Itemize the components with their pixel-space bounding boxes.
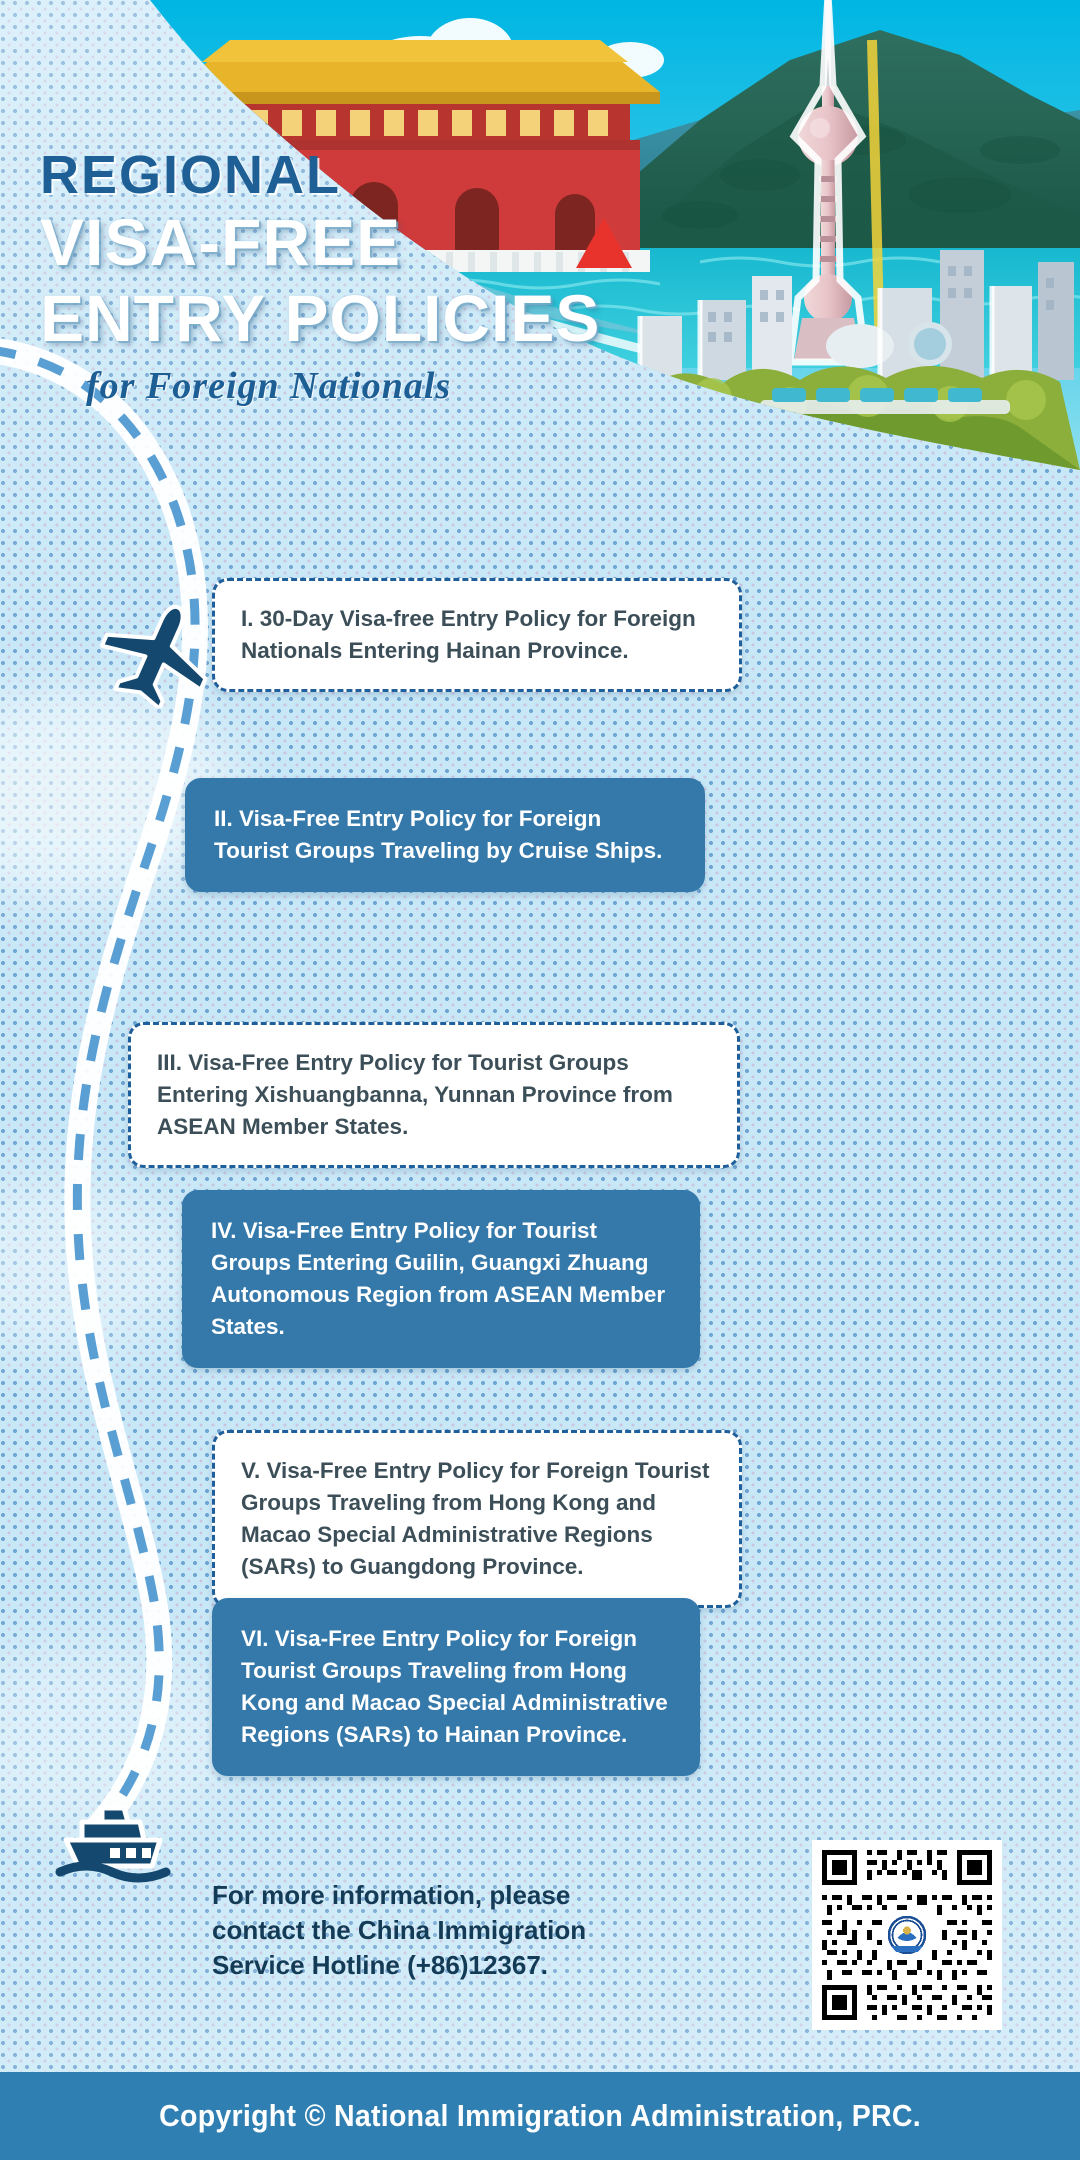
page-title: REGIONAL VISA-FREE ENTRY POLICIES for Fo… — [40, 148, 600, 408]
airplane-icon — [100, 598, 220, 713]
policy-card-4[interactable]: IV. Visa-Free Entry Policy for Tourist G… — [182, 1190, 700, 1368]
title-line-visa-free: VISA-FREE — [40, 208, 600, 278]
cruise-ship-icon — [48, 1792, 178, 1897]
title-subtitle: for Foreign Nationals — [86, 364, 600, 408]
policy-card-5[interactable]: V. Visa-Free Entry Policy for Foreign To… — [212, 1430, 742, 1608]
footer-bar: Copyright © National Immigration Adminis… — [0, 2072, 1080, 2160]
policy-card-1[interactable]: I. 30-Day Visa-free Entry Policy for For… — [212, 578, 742, 692]
copyright-text: Copyright © National Immigration Adminis… — [159, 2098, 921, 2134]
policy-card-6[interactable]: VI. Visa-Free Entry Policy for Foreign T… — [212, 1598, 700, 1776]
title-line-regional: REGIONAL — [40, 148, 600, 202]
policy-card-2[interactable]: II. Visa-Free Entry Policy for Foreign T… — [185, 778, 705, 892]
contact-hotline-text: For more information, please contact the… — [212, 1878, 602, 1983]
policy-card-3[interactable]: III. Visa-Free Entry Policy for Tourist … — [128, 1022, 740, 1168]
qr-code-icon[interactable] — [812, 1840, 1002, 2030]
title-line-entry-policies: ENTRY POLICIES — [40, 284, 600, 354]
